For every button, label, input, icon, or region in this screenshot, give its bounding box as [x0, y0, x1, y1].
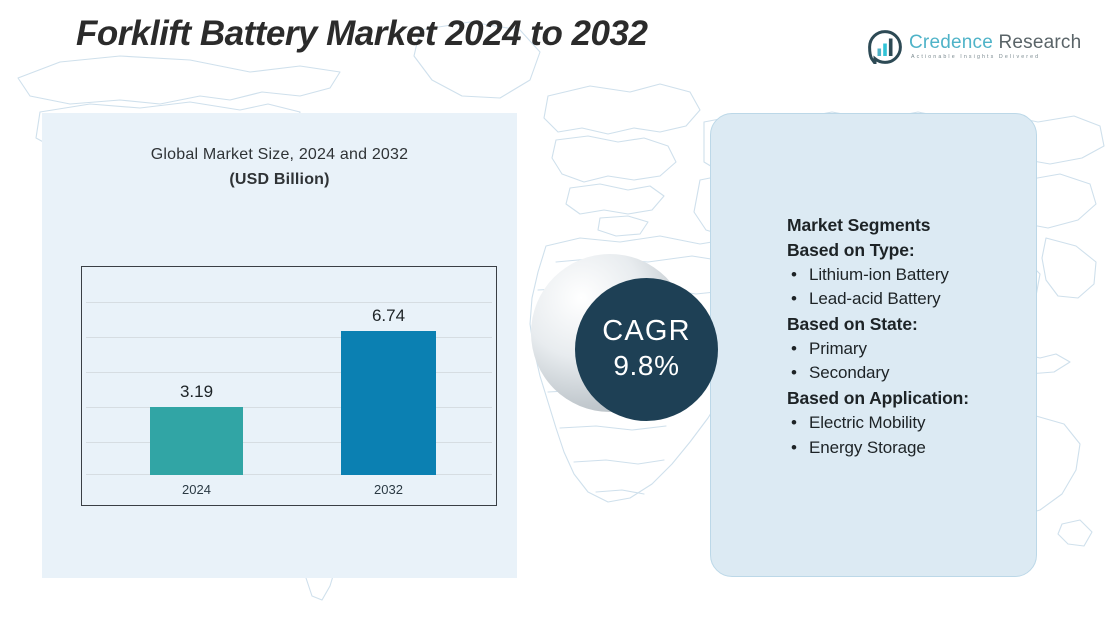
list-item: • Electric Mobility [787, 411, 1027, 436]
bullet-icon: • [791, 436, 799, 461]
bar-2032: 6.74 2032 [341, 331, 436, 475]
chart-caption-line1: Global Market Size, 2024 and 2032 [42, 146, 517, 164]
bullet-icon: • [791, 411, 799, 436]
segment-item-label: Primary [809, 337, 867, 362]
logo-word-credence: Credence [909, 32, 993, 53]
bar-2024: 3.19 2024 [150, 407, 243, 475]
brand-logo: Credence Research Actionable Insights De… [868, 30, 1081, 64]
bar-chart: 3.19 2024 6.74 2032 [81, 266, 497, 506]
logo-word-research: Research [998, 32, 1081, 53]
cagr-value: 9.8% [613, 349, 679, 383]
bar-category-2032: 2032 [341, 482, 436, 497]
bullet-icon: • [791, 337, 799, 362]
infographic-canvas: Forklift Battery Market 2024 to 2032 Cre… [0, 0, 1117, 617]
cagr-badge: CAGR 9.8% [531, 254, 721, 444]
segment-item-label: Energy Storage [809, 436, 926, 461]
segment-group-heading-type: Based on Type: [787, 238, 1027, 263]
bullet-icon: • [791, 361, 799, 386]
logo-tagline: Actionable Insights Delivered [911, 55, 1081, 60]
list-item: • Energy Storage [787, 436, 1027, 461]
cagr-circle: CAGR 9.8% [575, 278, 718, 421]
segment-item-label: Secondary [809, 361, 889, 386]
list-item: • Lead-acid Battery [787, 287, 1027, 312]
list-item: • Secondary [787, 361, 1027, 386]
bar-category-2024: 2024 [150, 482, 243, 497]
segments-heading: Market Segments [787, 213, 1027, 238]
bar-chart-circle-icon [868, 30, 902, 64]
list-item: • Primary [787, 337, 1027, 362]
segment-group-heading-application: Based on Application: [787, 386, 1027, 411]
bar-value-2032: 6.74 [341, 306, 436, 326]
segment-item-label: Lead-acid Battery [809, 287, 941, 312]
chart-plot-area: 3.19 2024 6.74 2032 [82, 267, 496, 505]
bar-rect-2032 [341, 331, 436, 475]
bullet-icon: • [791, 287, 799, 312]
market-segments: Market Segments Based on Type: • Lithium… [787, 213, 1027, 460]
cagr-label: CAGR [602, 316, 691, 346]
segment-item-label: Electric Mobility [809, 411, 925, 436]
logo-text: Credence Research Actionable Insights De… [909, 33, 1081, 60]
segment-item-label: Lithium-ion Battery [809, 263, 949, 288]
page-title: Forklift Battery Market 2024 to 2032 [76, 14, 647, 54]
bar-value-2024: 3.19 [150, 382, 243, 402]
list-item: • Lithium-ion Battery [787, 263, 1027, 288]
chart-caption: Global Market Size, 2024 and 2032 (USD B… [42, 146, 517, 189]
logo-wordmark: Credence Research [909, 33, 1081, 52]
bar-rect-2024 [150, 407, 243, 475]
bullet-icon: • [791, 263, 799, 288]
chart-caption-line2: (USD Billion) [42, 171, 517, 189]
segment-group-heading-state: Based on State: [787, 312, 1027, 337]
